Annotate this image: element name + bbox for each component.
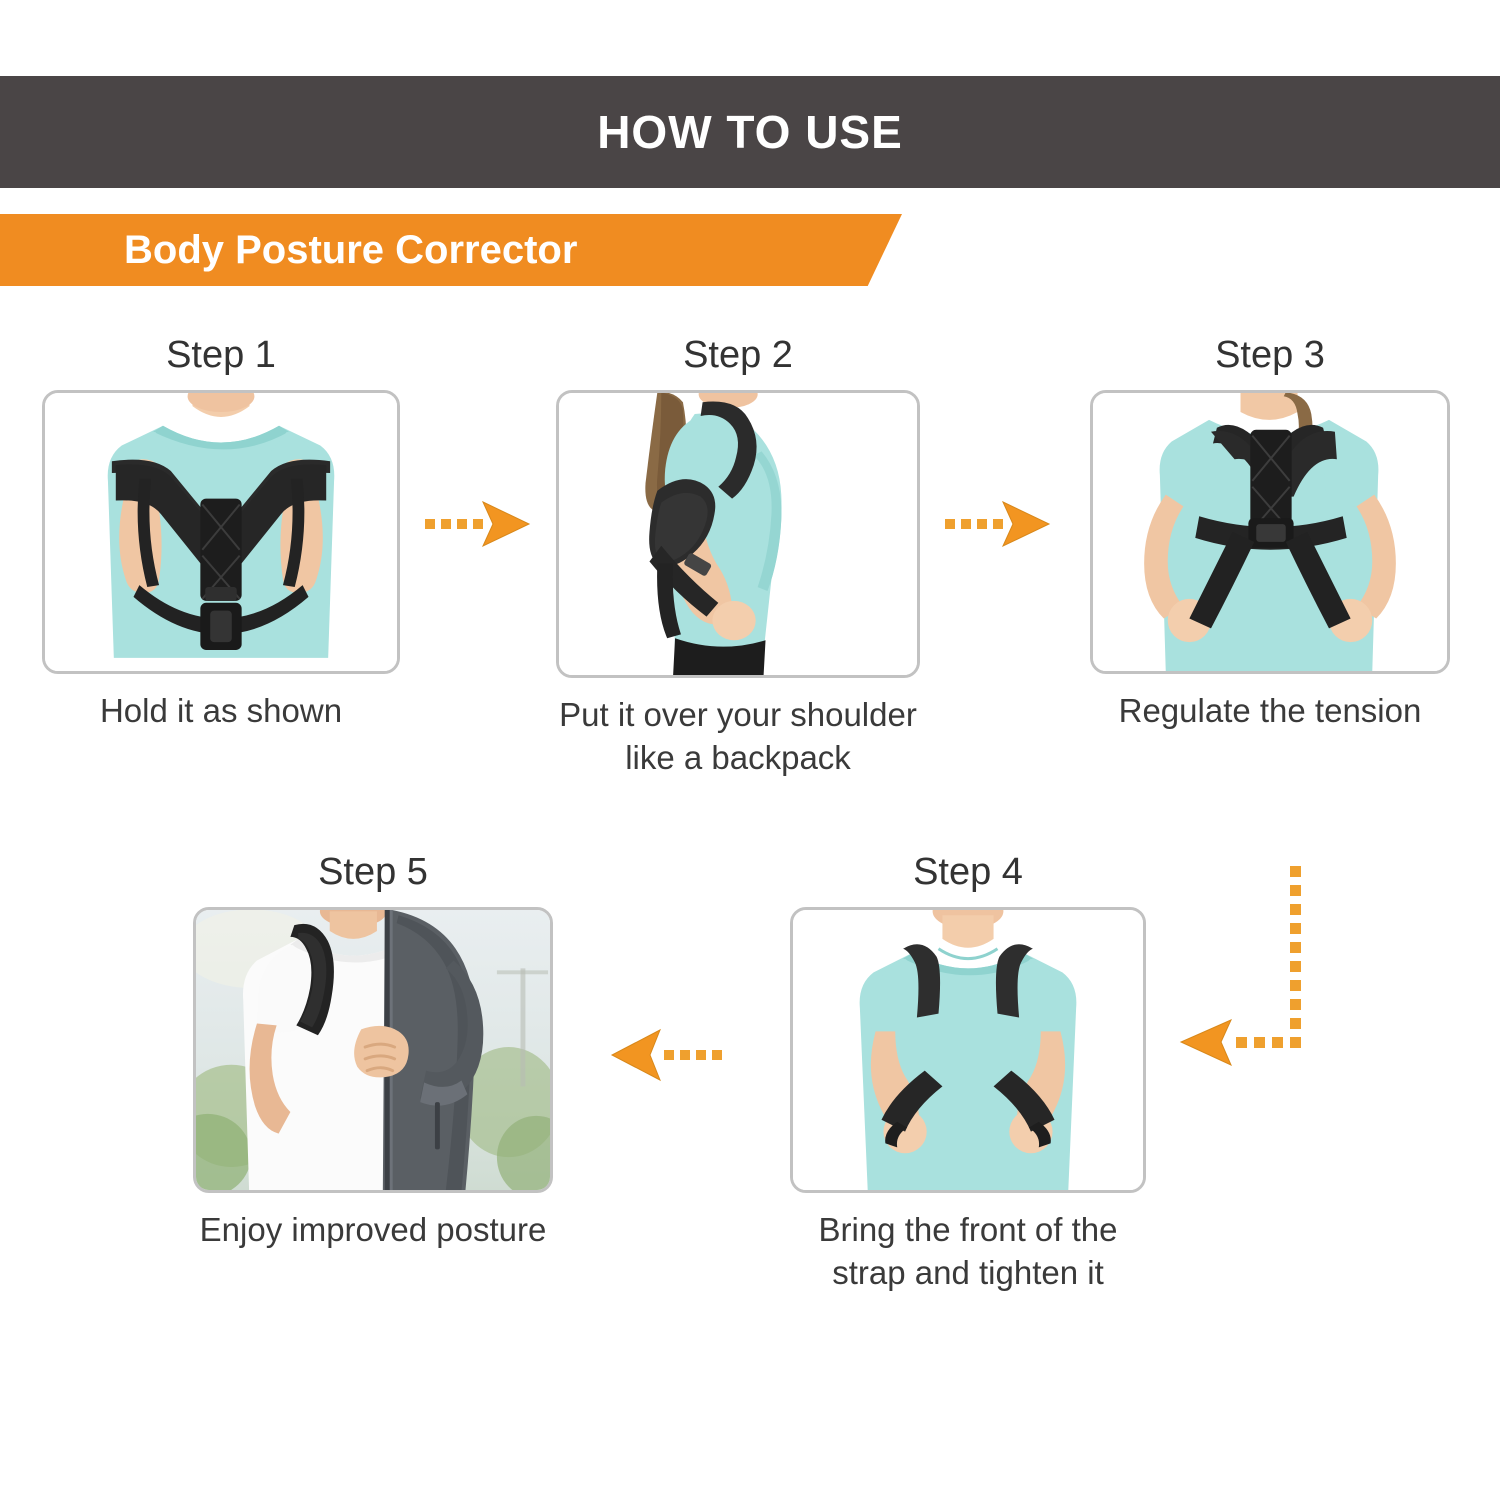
right-arrow-icon [425, 494, 535, 554]
step-card-5: Step 5 [193, 853, 553, 1252]
right-arrow-icon [945, 494, 1055, 554]
page-title: HOW TO USE [597, 105, 903, 159]
arrow-step3-to-step4 [1175, 862, 1325, 1092]
step-card-4: Step 4 [790, 853, 1146, 1295]
step-photo-2 [556, 390, 920, 678]
step-caption-5: Enjoy improved posture [193, 1209, 553, 1252]
step-photo-1 [42, 390, 400, 674]
step-label-4: Step 4 [790, 853, 1146, 893]
product-banner: Body Posture Corrector [0, 214, 902, 286]
step-card-2: Step 2 [556, 336, 920, 780]
illustration-regulate-tension [1093, 393, 1447, 671]
step-caption-3: Regulate the tension [1090, 690, 1450, 733]
step-photo-5 [193, 907, 553, 1193]
step-card-1: Step 1 [42, 336, 400, 733]
step-photo-4 [790, 907, 1146, 1193]
step-photo-3 [1090, 390, 1450, 674]
illustration-tighten-strap [793, 910, 1143, 1190]
left-arrow-icon [608, 1022, 728, 1088]
step-label-3: Step 3 [1090, 336, 1450, 376]
header-bar: HOW TO USE [0, 76, 1500, 188]
illustration-over-shoulder [559, 393, 917, 675]
step-caption-1: Hold it as shown [42, 690, 400, 733]
down-left-arrow-icon [1175, 862, 1325, 1092]
arrow-step2-to-step3 [945, 494, 1055, 554]
step-caption-4: Bring the front of the strap and tighten… [790, 1209, 1146, 1295]
illustration-improved-posture [196, 910, 550, 1190]
step-card-3: Step 3 [1090, 336, 1450, 733]
arrow-step4-to-step5 [608, 1022, 728, 1088]
illustration-hold-brace [45, 393, 397, 671]
step-label-2: Step 2 [556, 336, 920, 376]
step-label-1: Step 1 [42, 336, 400, 376]
product-name: Body Posture Corrector [124, 228, 577, 273]
step-label-5: Step 5 [193, 853, 553, 893]
arrow-step1-to-step2 [425, 494, 535, 554]
step-caption-2: Put it over your shoulder like a backpac… [556, 694, 920, 780]
